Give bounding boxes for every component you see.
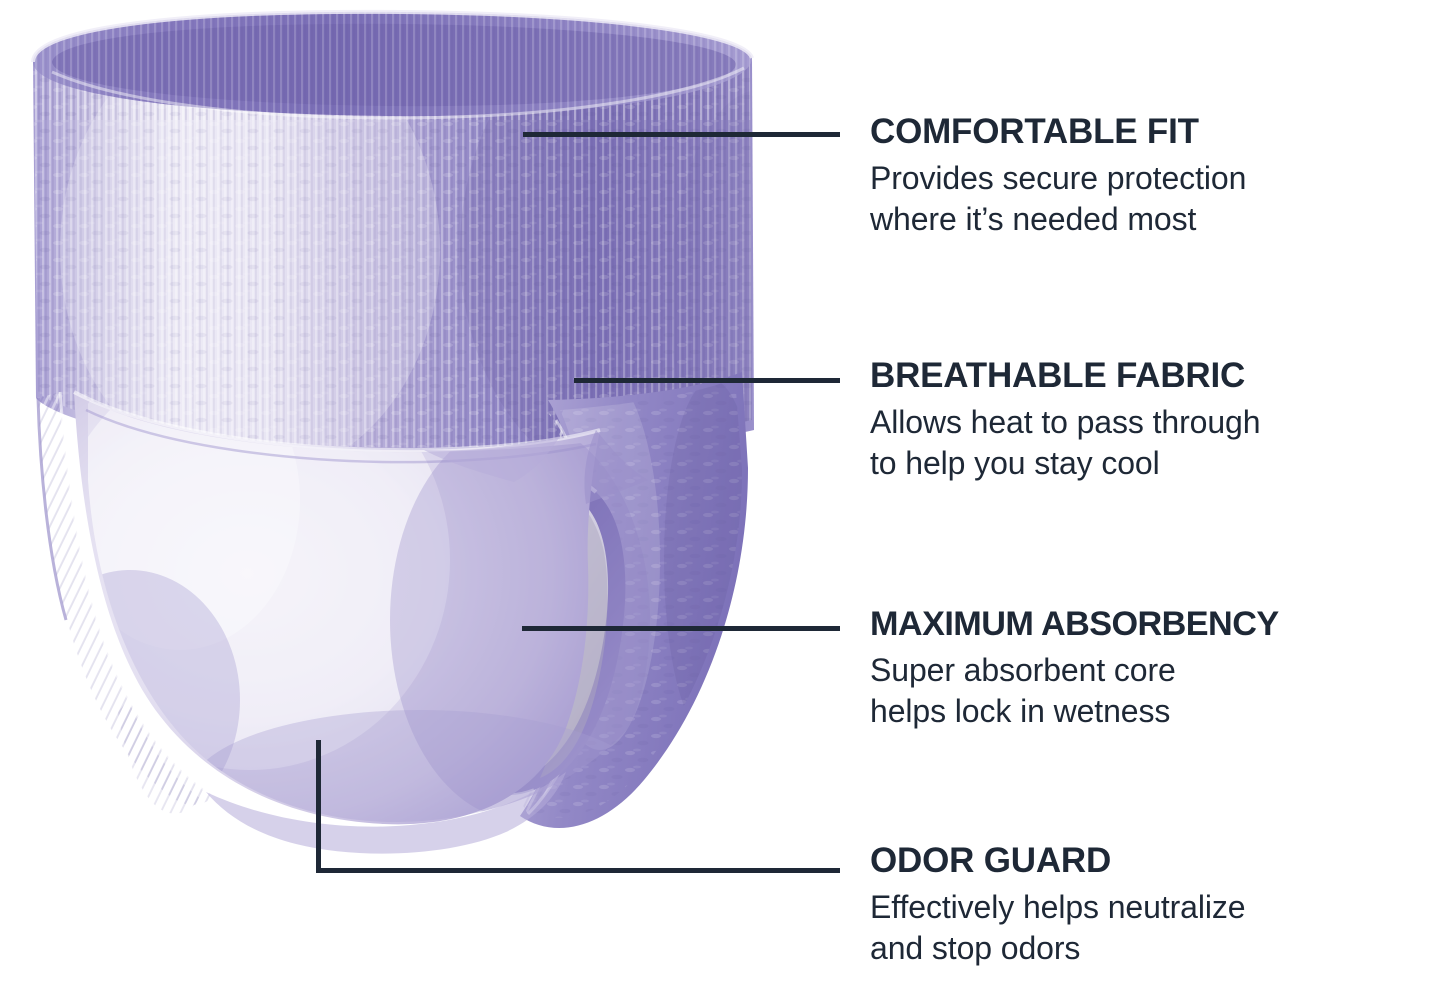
callout-description-line: to help you stay cool (870, 443, 1445, 484)
leader-line-odor-guard-vertical (316, 740, 321, 873)
callout-heading: COMFORTABLE FIT (870, 112, 1445, 152)
callout-description: Allows heat to pass through to help you … (870, 402, 1445, 484)
callout-description: Effectively helps neutralize and stop od… (870, 887, 1445, 969)
leader-line-odor-guard-horizontal (316, 868, 840, 873)
callout-heading: BREATHABLE FABRIC (870, 356, 1445, 396)
callout-description: Super absorbent core helps lock in wetne… (870, 650, 1445, 732)
callout-maximum-absorbency: MAXIMUM ABSORBENCY Super absorbent core … (870, 604, 1445, 732)
callout-description-line: where it’s needed most (870, 199, 1445, 240)
leader-line-breathable-fabric (574, 378, 840, 383)
callout-description-line: Allows heat to pass through (870, 402, 1445, 443)
callout-odor-guard: ODOR GUARD Effectively helps neutralize … (870, 841, 1445, 969)
callout-heading: MAXIMUM ABSORBENCY (870, 604, 1445, 644)
callout-description-line: Effectively helps neutralize (870, 887, 1445, 928)
leader-line-maximum-absorbency (522, 626, 840, 631)
infographic-canvas: COMFORTABLE FIT Provides secure protecti… (0, 0, 1445, 1002)
product-image (0, 0, 870, 1002)
callout-description-line: Super absorbent core (870, 650, 1445, 691)
callout-description-line: helps lock in wetness (870, 691, 1445, 732)
callout-description-line: Provides secure protection (870, 158, 1445, 199)
leader-line-comfortable-fit (523, 132, 840, 137)
callout-description-line: and stop odors (870, 928, 1445, 969)
callout-breathable-fabric: BREATHABLE FABRIC Allows heat to pass th… (870, 356, 1445, 484)
callout-description: Provides secure protection where it’s ne… (870, 158, 1445, 240)
callout-comfortable-fit: COMFORTABLE FIT Provides secure protecti… (870, 112, 1445, 240)
callout-heading: ODOR GUARD (870, 841, 1445, 881)
